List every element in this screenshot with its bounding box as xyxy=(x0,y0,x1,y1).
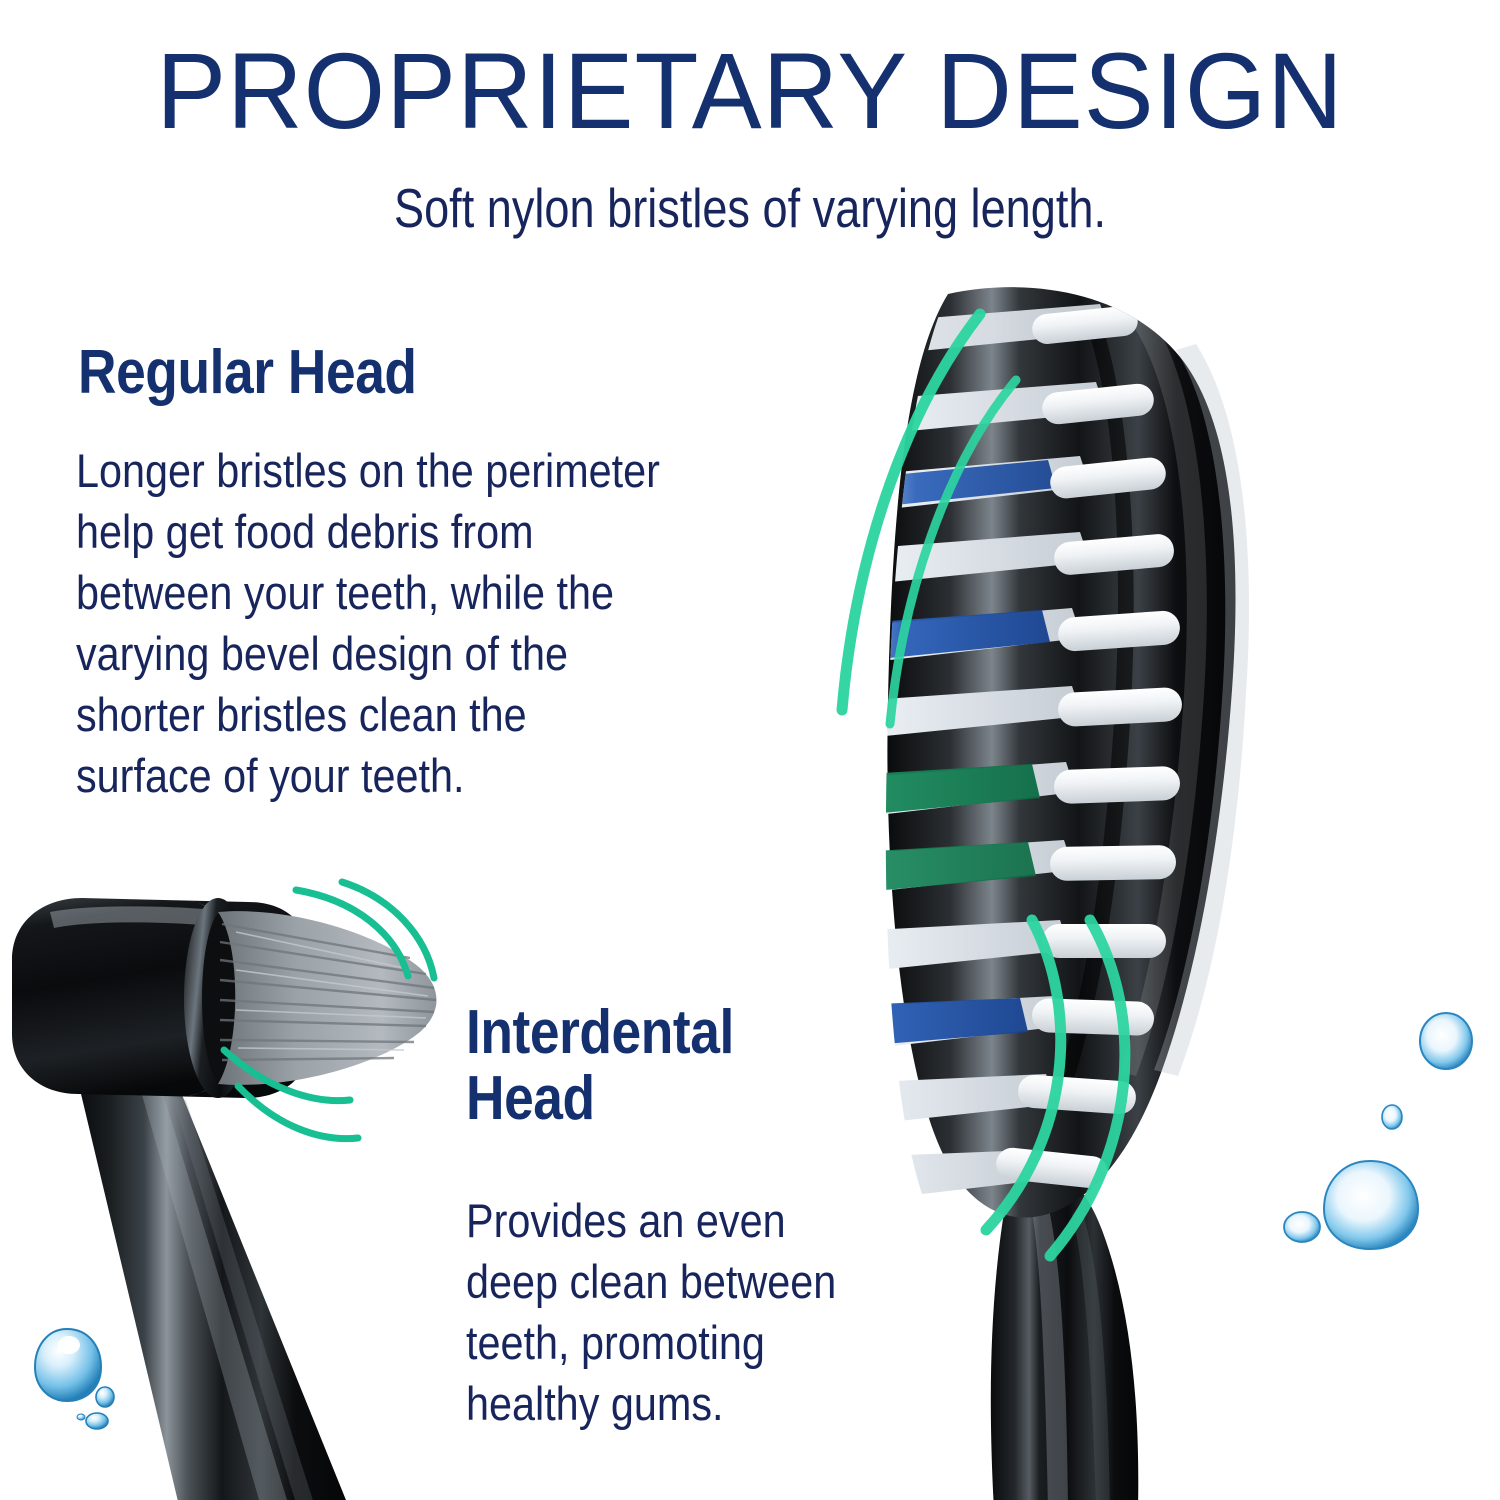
water-droplets-left xyxy=(25,1305,175,1455)
interdental-head-title: Interdental Head xyxy=(466,1000,734,1131)
infographic-canvas: PROPRIETARY DESIGN Soft nylon bristles o… xyxy=(0,0,1500,1500)
water-droplets-right xyxy=(1270,965,1500,1255)
regular-head-title: Regular Head xyxy=(78,340,417,406)
regular-head-body: Longer bristles on the perimeter help ge… xyxy=(76,440,868,807)
interdental-head-body: Provides an even deep clean between teet… xyxy=(466,1190,1012,1434)
droplet xyxy=(1420,1013,1472,1069)
droplet xyxy=(77,1414,85,1420)
droplet xyxy=(86,1413,108,1429)
droplet xyxy=(96,1387,114,1407)
droplet xyxy=(1382,1105,1402,1129)
interdental-bristle-tuft xyxy=(218,911,437,1085)
droplet xyxy=(1284,1212,1320,1242)
page-title: PROPRIETARY DESIGN xyxy=(23,34,1478,147)
droplet xyxy=(1324,1161,1418,1249)
page-subtitle: Soft nylon bristles of varying length. xyxy=(135,176,1365,240)
droplet-highlight xyxy=(58,1336,80,1354)
